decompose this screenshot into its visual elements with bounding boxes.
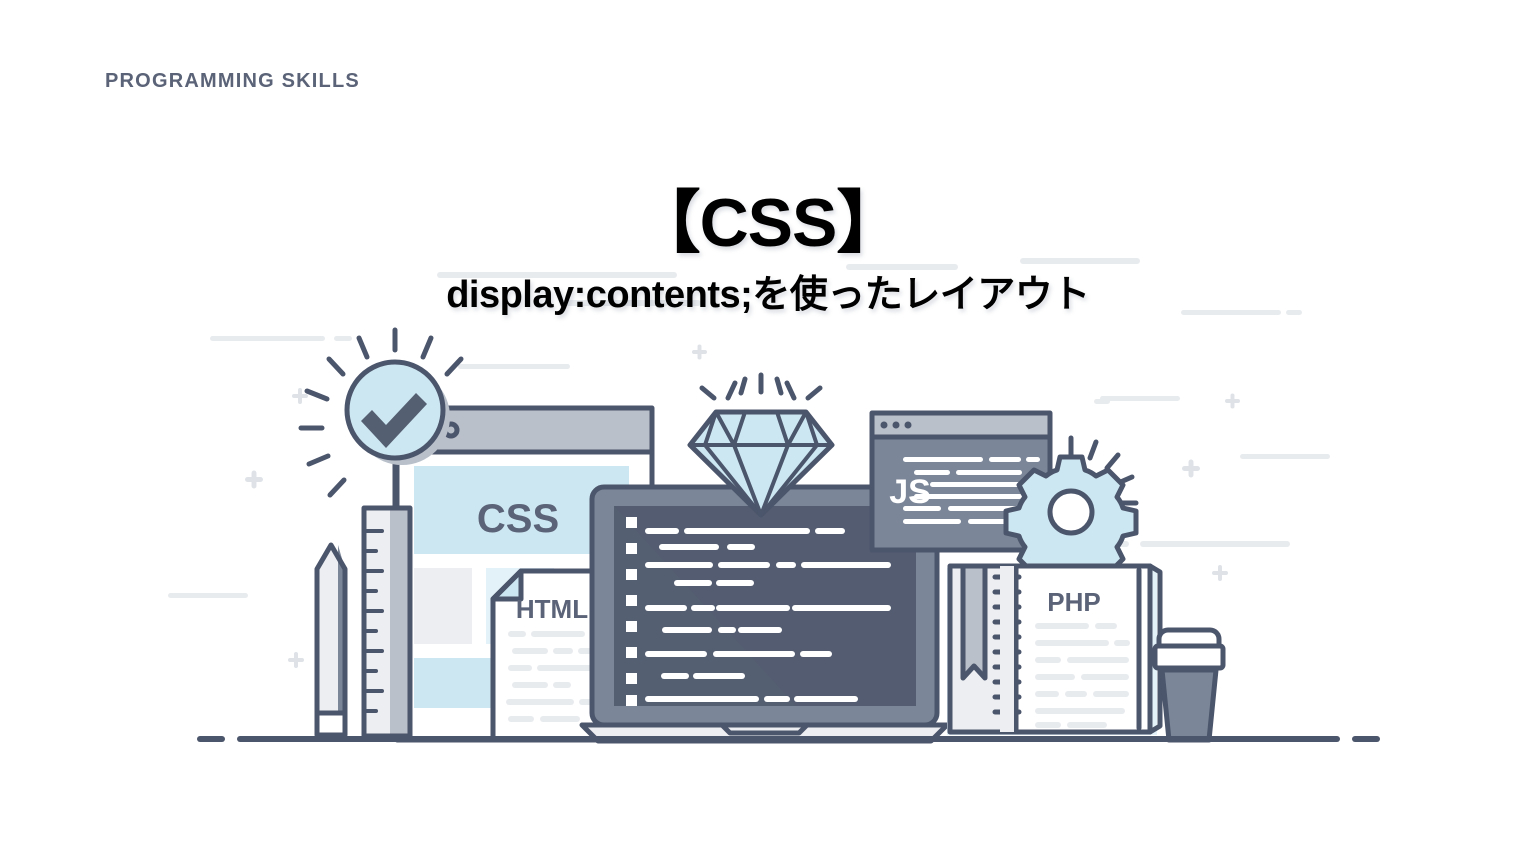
svg-text:JS: JS xyxy=(889,473,931,511)
notebook-php: PHP xyxy=(947,566,1160,735)
svg-text:CSS: CSS xyxy=(477,497,559,541)
ground-line xyxy=(197,736,1380,742)
svg-text:HTML: HTML xyxy=(516,594,588,624)
svg-text:PHP: PHP xyxy=(1047,587,1100,617)
pencil-icon xyxy=(317,545,345,735)
coffee-cup-icon xyxy=(1155,630,1223,740)
ruler-icon xyxy=(364,508,410,736)
programming-skills-illustration: .ol{ fill:none; stroke:#4b556b; stroke-w… xyxy=(0,0,1536,864)
